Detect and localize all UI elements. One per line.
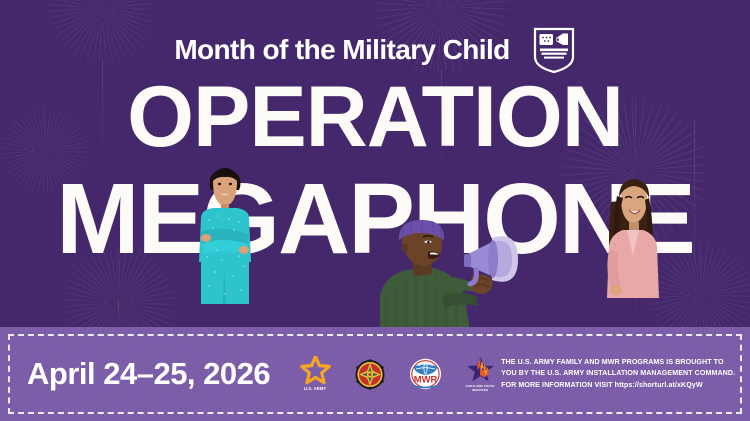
fineprint-text: THE U.S. ARMY FAMILY AND MWR PROGRAMS IS… [501,357,735,391]
page-title: Month of the Military Child [174,34,509,66]
mwr-logo-text: MWR [413,374,437,385]
footer-content: April 24–25, 2026 U.S. ARMY [8,334,742,414]
partner-logos: U.S. ARMY [294,356,501,392]
operation-megaphone-badge [532,26,576,74]
fineprint-line-2: YOU BY THE U.S. ARMY INSTALLATION MANAGE… [501,368,735,379]
mwr-logo: MWR [404,358,446,390]
child-youth-services-logo: CHILD AND YOUTH SERVICES [459,356,501,392]
youth-with-megaphone-photo [372,218,520,330]
youth-pink-jacket-photo [597,172,667,304]
imcom-crest-logo [349,359,391,390]
us-army-logo-caption: U.S. ARMY [304,387,326,392]
child-youth-services-caption: CHILD AND YOUTH SERVICES [459,385,501,392]
header-row: Month of the Military Child [0,26,750,74]
event-date: April 24–25, 2026 [27,356,270,392]
us-army-star-logo: U.S. ARMY [294,356,336,392]
promotional-banner: Month of the Military Child OPERATION ME… [0,0,750,421]
fineprint-line-1: THE U.S. ARMY FAMILY AND MWR PROGRAMS IS… [501,357,735,368]
fineprint-line-3: FOR MORE INFORMATION VISIT https://short… [501,380,735,391]
footer-bar: April 24–25, 2026 U.S. ARMY [0,327,750,421]
youth-teal-sweater-photo [189,162,261,304]
headline-operation: OPERATION [0,82,750,153]
